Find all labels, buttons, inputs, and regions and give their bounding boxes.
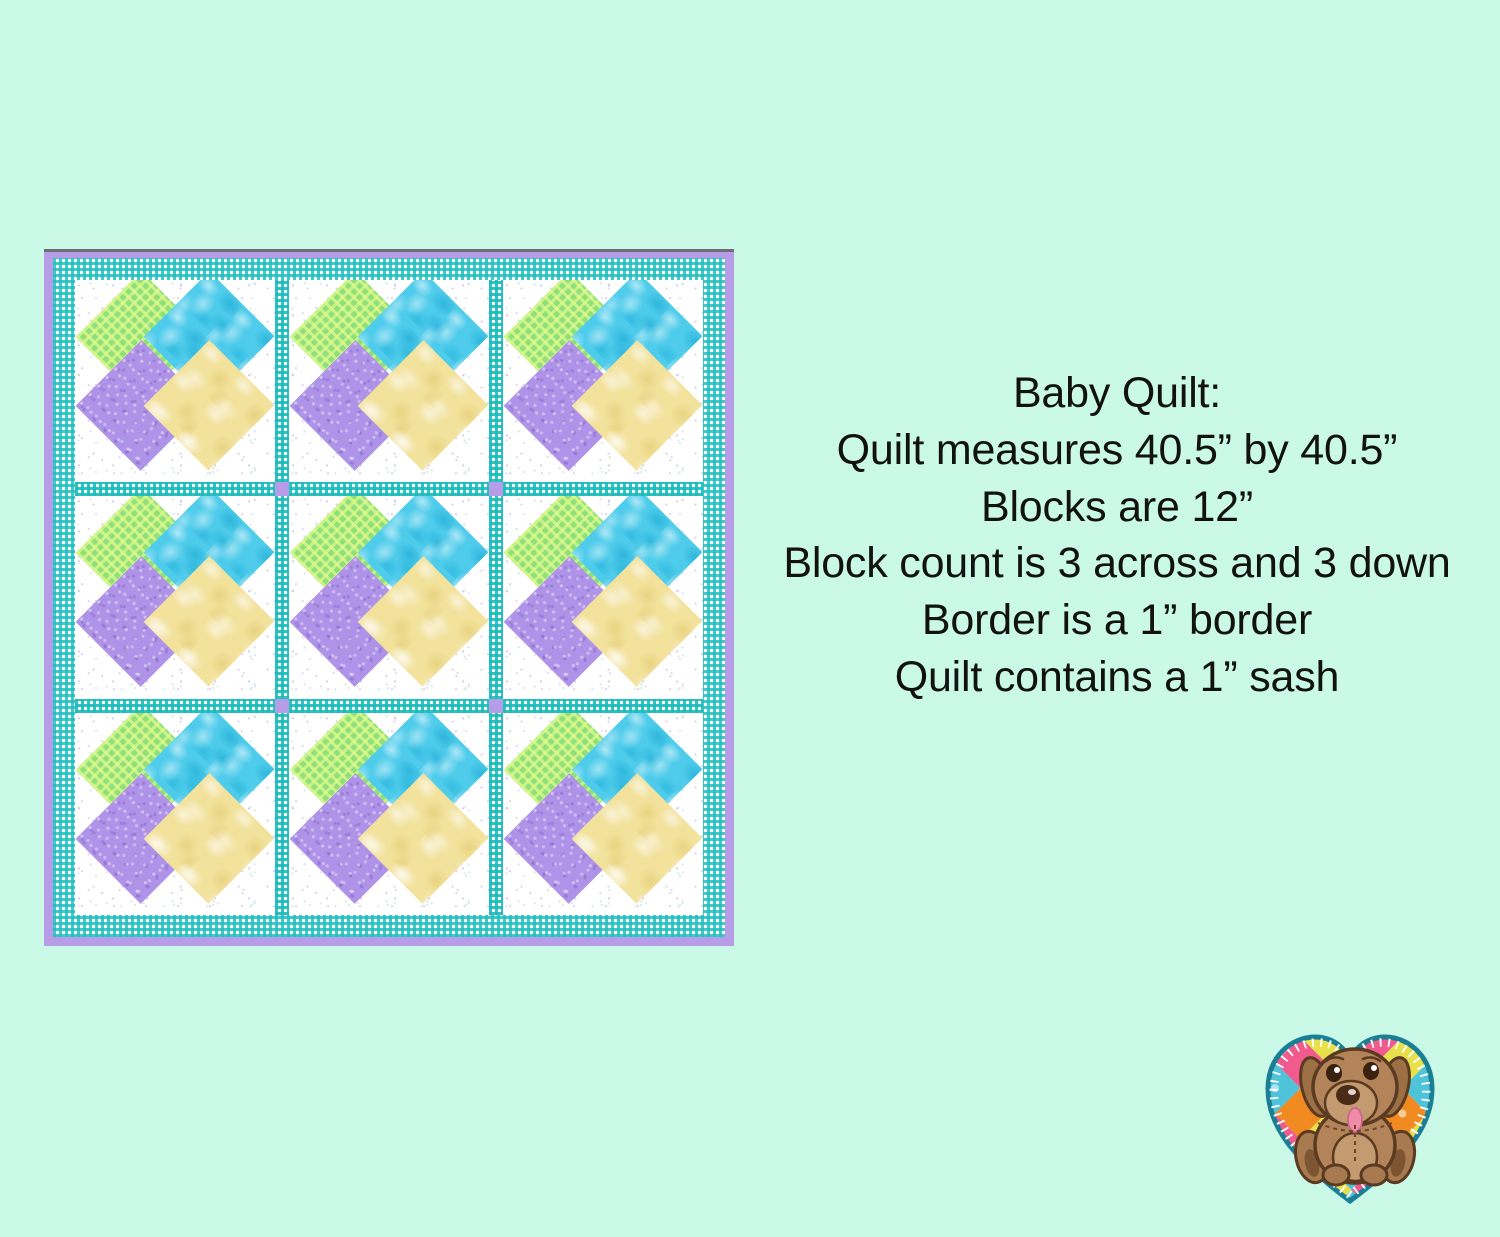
quilt-specs-text: Baby Quilt: Quilt measures 40.5” by 40.5… <box>757 365 1477 706</box>
quilt-block <box>75 280 275 482</box>
quilt-block <box>503 280 703 482</box>
spec-block-size: Blocks are 12” <box>757 479 1477 536</box>
horizontal-sash <box>503 699 703 713</box>
spec-border: Border is a 1” border <box>757 592 1477 649</box>
puppy-heart-svg <box>1258 1005 1443 1210</box>
horizontal-sash <box>75 699 275 713</box>
puppy-heart-logo <box>1258 1005 1443 1210</box>
vertical-sash <box>489 496 503 698</box>
spec-title: Baby Quilt: <box>757 365 1477 422</box>
quilt-illustration <box>44 249 734 946</box>
vertical-sash <box>489 713 503 915</box>
quilt-binding <box>44 249 734 946</box>
quilt-block <box>503 713 703 915</box>
sash-cornerstone <box>489 482 503 496</box>
quilt-block <box>289 496 489 698</box>
horizontal-sash <box>75 482 275 496</box>
horizontal-sash <box>503 482 703 496</box>
quilt-top-edge-line <box>44 249 734 252</box>
quilt-block <box>289 713 489 915</box>
spec-block-count: Block count is 3 across and 3 down <box>757 535 1477 592</box>
vertical-sash <box>489 280 503 482</box>
quilt-block <box>289 280 489 482</box>
spec-quilt-size: Quilt measures 40.5” by 40.5” <box>757 422 1477 479</box>
vertical-sash <box>275 496 289 698</box>
sash-cornerstone <box>275 699 289 713</box>
horizontal-sash <box>289 482 489 496</box>
quilt-block <box>503 496 703 698</box>
sash-cornerstone <box>275 482 289 496</box>
quilt-block-grid <box>75 280 703 915</box>
quilt-block <box>75 713 275 915</box>
vertical-sash <box>275 713 289 915</box>
quilt-block <box>75 496 275 698</box>
spec-sash: Quilt contains a 1” sash <box>757 649 1477 706</box>
horizontal-sash <box>289 699 489 713</box>
quilt-border <box>53 258 725 937</box>
vertical-sash <box>275 280 289 482</box>
sash-cornerstone <box>489 699 503 713</box>
